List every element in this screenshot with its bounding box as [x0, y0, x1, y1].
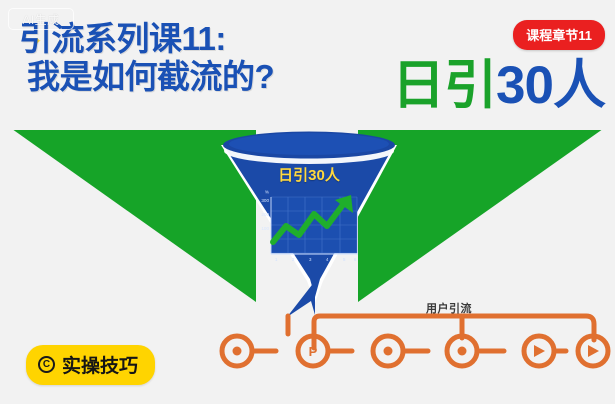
skill-badge[interactable]: C 实操技巧 [26, 345, 155, 385]
headline-block: 引流系列课11: 我是如何截流的? [19, 20, 274, 97]
headline-line-2: 我是如何截流的? [19, 58, 274, 96]
highlight-metric-prefix: 日引 [392, 56, 496, 115]
user-flow-label: 用户引流 [426, 300, 472, 316]
flow-node-1 [222, 336, 252, 366]
funnel-graphic [219, 131, 399, 311]
copyright-icon: C [38, 356, 55, 373]
poster-canvas: ✦ 日引30人 [0, 0, 615, 404]
green-wing-left [0, 130, 256, 302]
highlight-metric: 日引30人 [392, 59, 605, 112]
flow-node-3 [373, 336, 403, 366]
chapter-badge[interactable]: 课程章节11 [513, 20, 605, 50]
highlight-metric-value: 30人 [496, 56, 605, 115]
funnel-body [226, 149, 392, 297]
flow-node-5 [524, 336, 554, 366]
headline-line-1: 引流系列课11: [19, 20, 274, 58]
funnel-top-inner [229, 133, 389, 155]
flow-connector-paths [254, 316, 594, 351]
svg-text:P: P [309, 344, 318, 359]
skill-badge-label: 实操技巧 [62, 351, 138, 378]
